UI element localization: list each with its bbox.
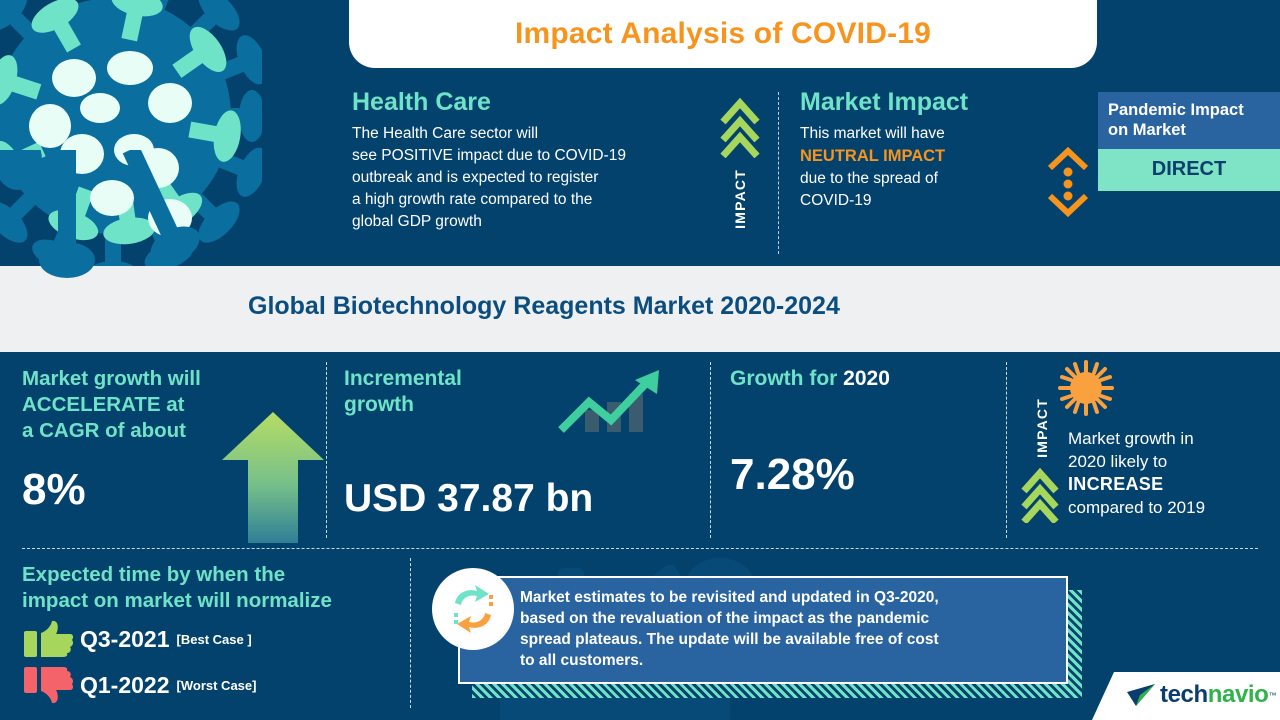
note-line-3: spread plateaus. The update will be avai… [520,630,1060,651]
page-title: Impact Analysis of COVID-19 [515,17,931,51]
market-line-3: COVID-19 [800,190,1052,212]
technavio-arrow-icon [1126,682,1156,708]
divider-metric-1 [326,362,327,538]
growth-year: 2020 [843,367,890,390]
badge-value: DIRECT [1098,149,1280,191]
impact-label-healthcare: IMPACT [732,169,748,229]
case-best: Q3-2021 [Best Case ] [22,619,442,659]
sector-market-body: This market will have NEUTRAL IMPACT due… [800,123,1052,212]
note-line-1: Market estimates to be revisited and upd… [520,588,1060,609]
case-worst-quarter: Q1-2022 [80,672,170,699]
healthcare-line-4: a high growth rate compared to the [352,189,704,211]
double-chevron-up-icon [719,96,761,158]
normalize-section: Expected time by when the impact on mark… [22,562,442,705]
healthcare-line-2: see POSITIVE impact due to COVID-19 [352,145,704,167]
badge-heading-line2: on Market [1108,120,1270,140]
divider-metric-2 [710,362,711,538]
metric-impact-text: Market growth in 2020 likely to INCREASE… [1068,428,1274,520]
impact-text-bold: INCREASE [1068,474,1163,494]
note-text: Market estimates to be revisited and upd… [520,588,1060,672]
thumbs-down-icon [22,665,74,705]
market-line-1: This market will have [800,123,1052,145]
case-best-tag: [Best Case ] [177,632,252,647]
metric-growth-2020: Growth for 2020 7.28% [730,366,990,500]
impact-label-growth: IMPACT [1034,398,1050,458]
note-line-4: to all customers. [520,651,1060,672]
thumbs-up-icon [22,619,74,659]
divider-bottom-vertical [410,558,411,708]
logo-trademark: ™ [1268,691,1276,700]
metric-incremental-value: USD 37.87 bn [344,477,704,521]
sector-healthcare-heading: Health Care [352,88,704,117]
up-arrow-icon [218,408,328,543]
sector-healthcare-body: The Health Care sector will see POSITIVE… [352,123,704,233]
neutral-updown-icon [1040,146,1096,218]
refresh-sync-icon [445,581,501,637]
logo-text-tech: tech [1160,681,1208,709]
market-line-2: due to the spread of [800,168,1052,190]
divider-top-vertical [778,92,779,254]
impact-indicator-growth: IMPACT [1020,392,1064,523]
logo-text-navio: navio [1208,681,1269,709]
divider-horizontal [22,548,1258,549]
normalize-heading-line1: Expected time by when the [22,562,442,588]
healthcare-line-3: outbreak and is expected to register [352,167,704,189]
infographic-canvas: Impact Analysis of COVID-19 Health Care … [0,0,1280,720]
subtitle: Global Biotechnology Reagents Market 202… [248,292,840,321]
badge-heading-line1: Pandemic Impact [1108,100,1270,120]
note-box: Market estimates to be revisited and upd… [458,576,1068,684]
impact-text-line1: Market growth in [1068,428,1274,451]
metric-growth-heading: Growth for 2020 [730,366,990,392]
growth-prefix: Growth for [730,367,843,390]
impact-text-line3: compared to 2019 [1068,497,1274,520]
market-highlight: NEUTRAL IMPACT [800,145,1052,168]
normalize-heading-line2: impact on market will normalize [22,588,442,614]
cagr-line-1: Market growth will [22,366,322,392]
case-worst-tag: [Worst Case] [177,678,257,693]
case-worst: Q1-2022 [Worst Case] [22,665,442,705]
normalize-heading: Expected time by when the impact on mark… [22,562,442,613]
double-chevron-up-icon [1020,467,1060,523]
logo-content: technavio™ [1126,681,1276,709]
sector-healthcare: Health Care The Health Care sector will … [352,88,704,233]
badge-heading: Pandemic Impact on Market [1098,92,1280,149]
virus-icon [1058,360,1114,416]
impact-text-line2: 2020 likely to [1068,451,1274,474]
title-card: Impact Analysis of COVID-19 [349,0,1097,68]
note-icon-circle [432,568,514,650]
metric-growth-value: 7.28% [730,450,990,500]
impact-indicator-healthcare: IMPACT [712,96,768,256]
case-best-quarter: Q3-2021 [80,626,170,653]
pandemic-impact-badge: Pandemic Impact on Market DIRECT [1098,92,1280,191]
sector-market-impact: Market Impact This market will have NEUT… [800,88,1052,212]
divider-metric-3 [1006,362,1007,538]
healthcare-line-5: global GDP growth [352,211,704,233]
virus-illustration-legs [0,150,250,330]
technavio-logo: technavio™ [1092,672,1280,720]
trend-up-chart-icon [555,368,665,438]
sector-market-heading: Market Impact [800,88,1052,117]
note-line-2: based on the revaluation of the impact a… [520,609,1060,630]
healthcare-line-1: The Health Care sector will [352,123,704,145]
